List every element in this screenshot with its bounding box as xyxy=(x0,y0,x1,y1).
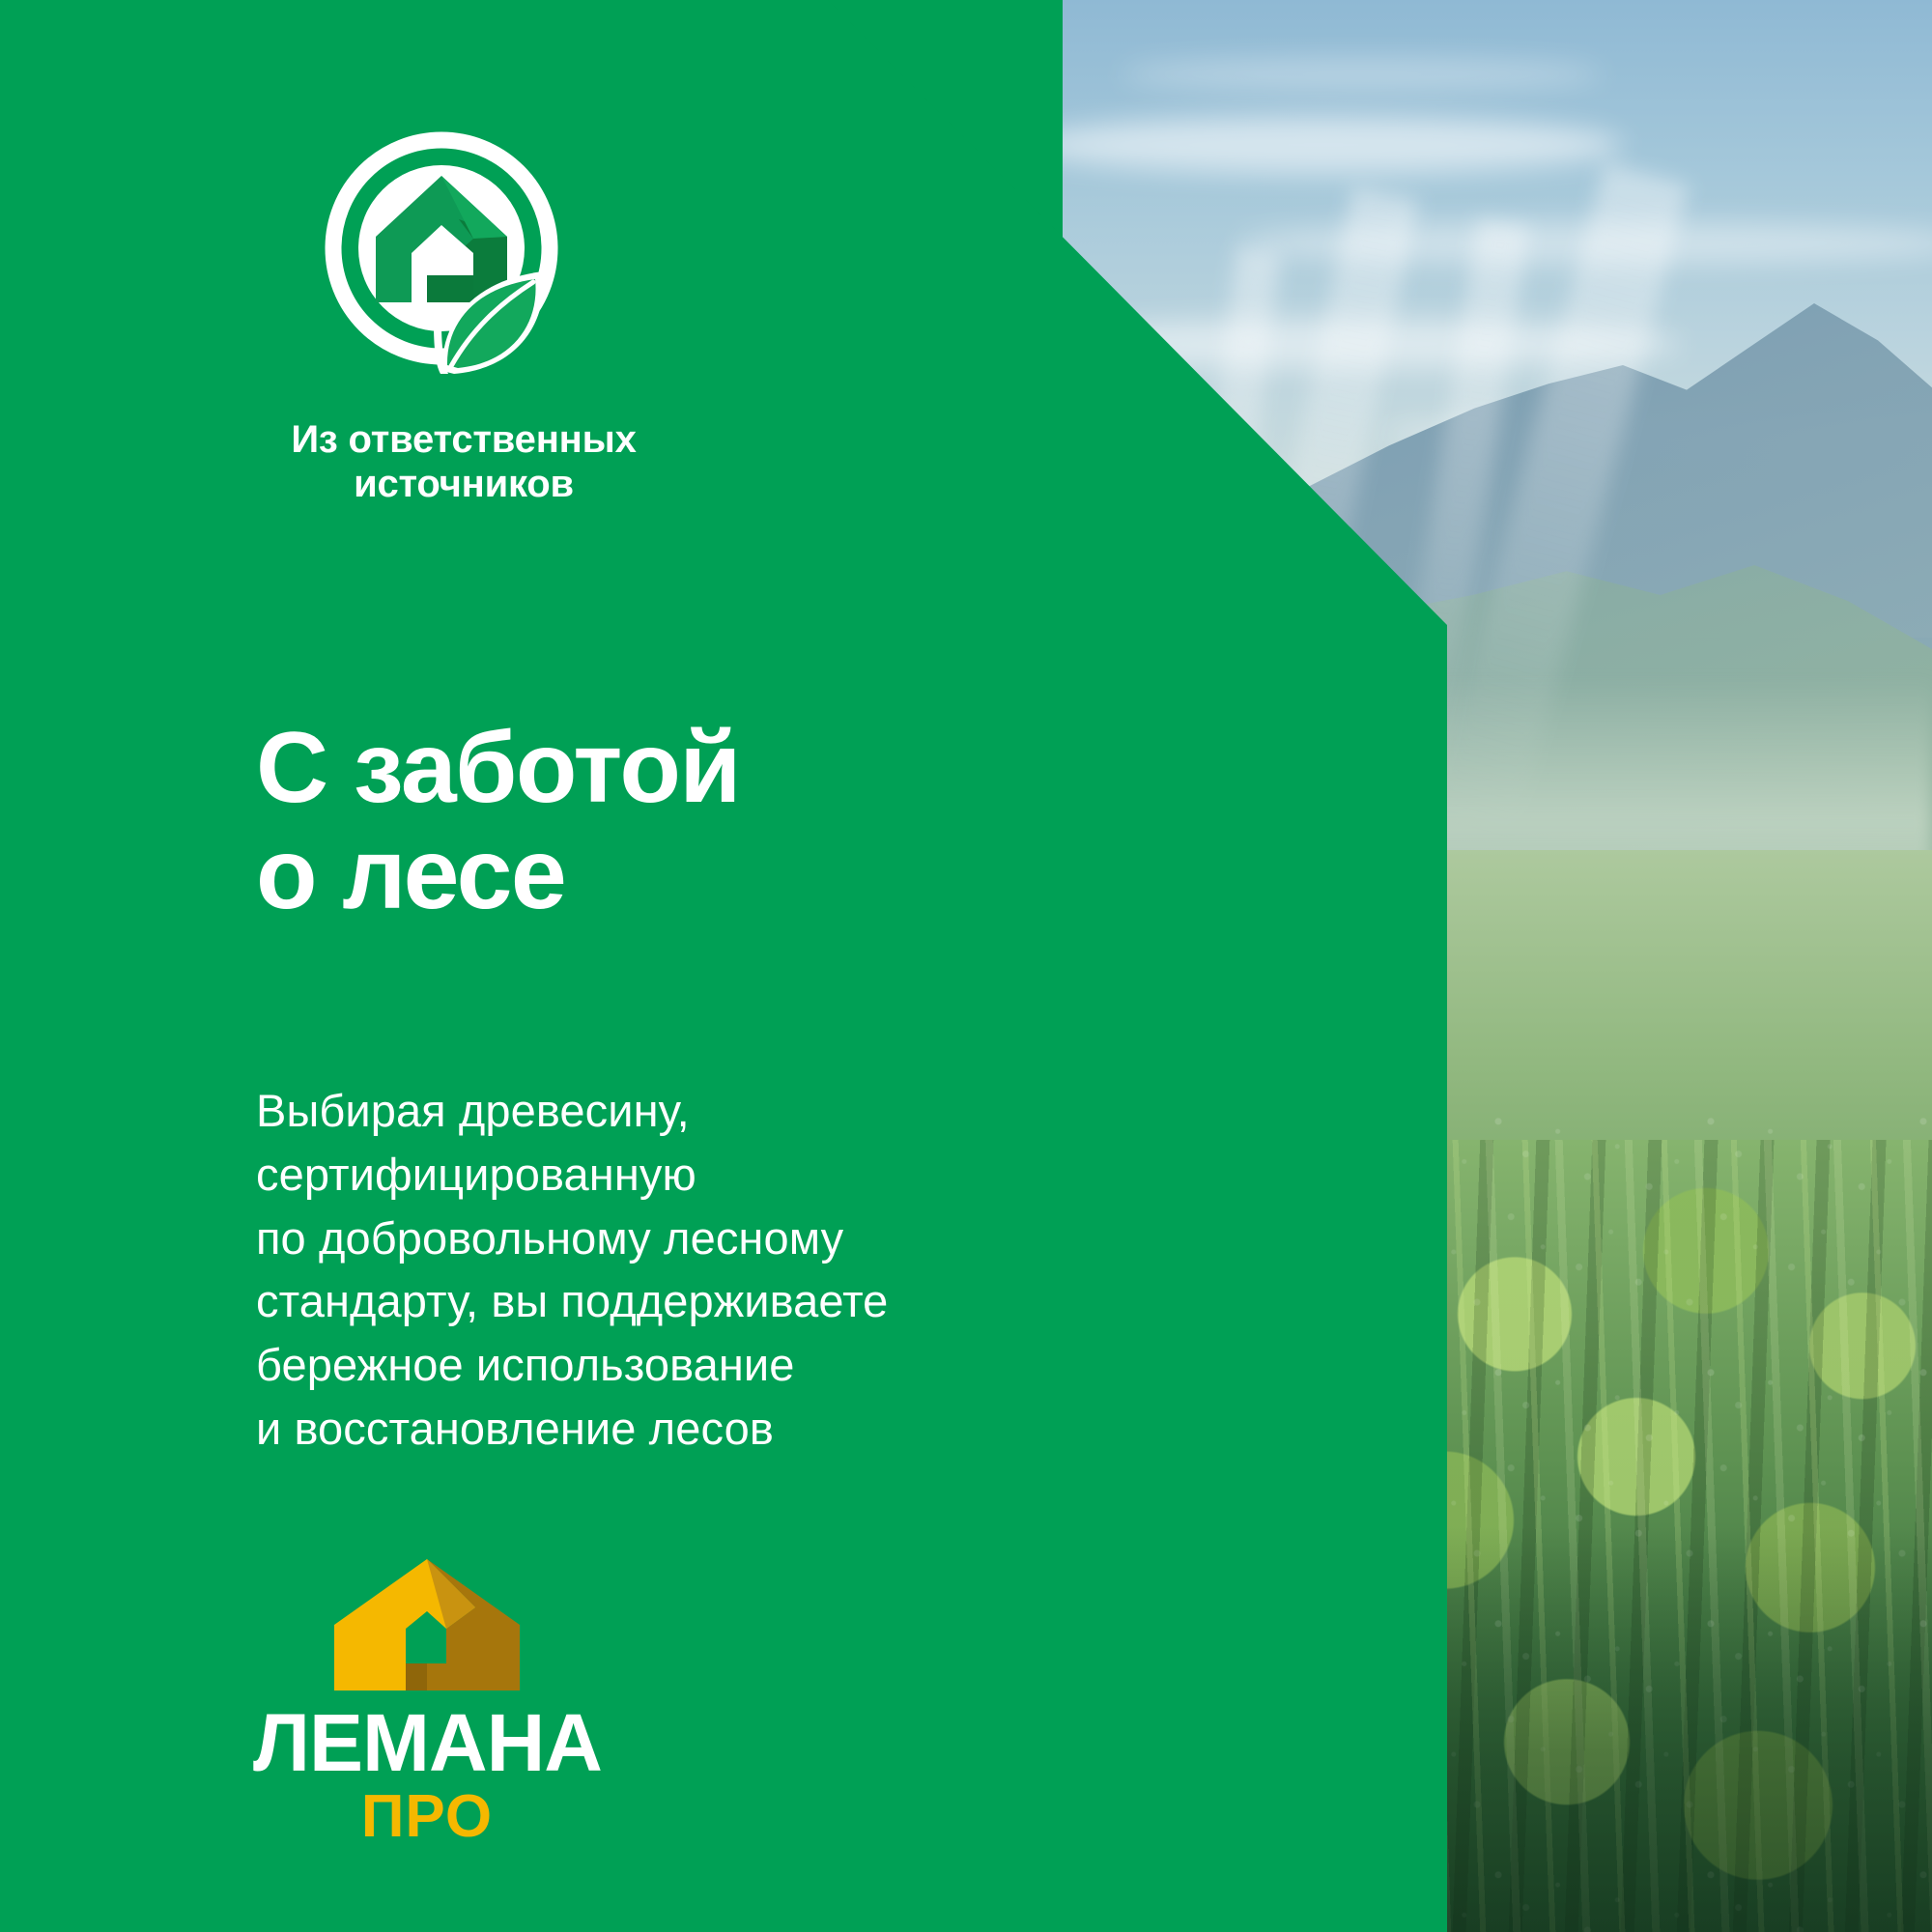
responsible-sourcing-badge xyxy=(319,130,575,386)
lemana-wordmark: ЛЕМАНА xyxy=(253,1702,601,1783)
lemana-pro-logo: ЛЕМАНА ПРО xyxy=(253,1557,601,1857)
pro-wordmark: ПРО xyxy=(253,1787,601,1847)
badge-svg xyxy=(319,130,575,386)
poster-content: Из ответственных источников С заботой о … xyxy=(0,0,1447,1932)
page-title: С заботой о лесе xyxy=(256,715,1125,927)
lemana-house-icon xyxy=(330,1557,524,1692)
promo-poster: Из ответственных источников С заботой о … xyxy=(0,0,1932,1932)
lemana-house-svg xyxy=(330,1557,524,1692)
badge-caption: Из ответственных источников xyxy=(251,417,676,507)
body-paragraph: Выбирая древесину, сертифицированную по … xyxy=(256,1079,1125,1461)
